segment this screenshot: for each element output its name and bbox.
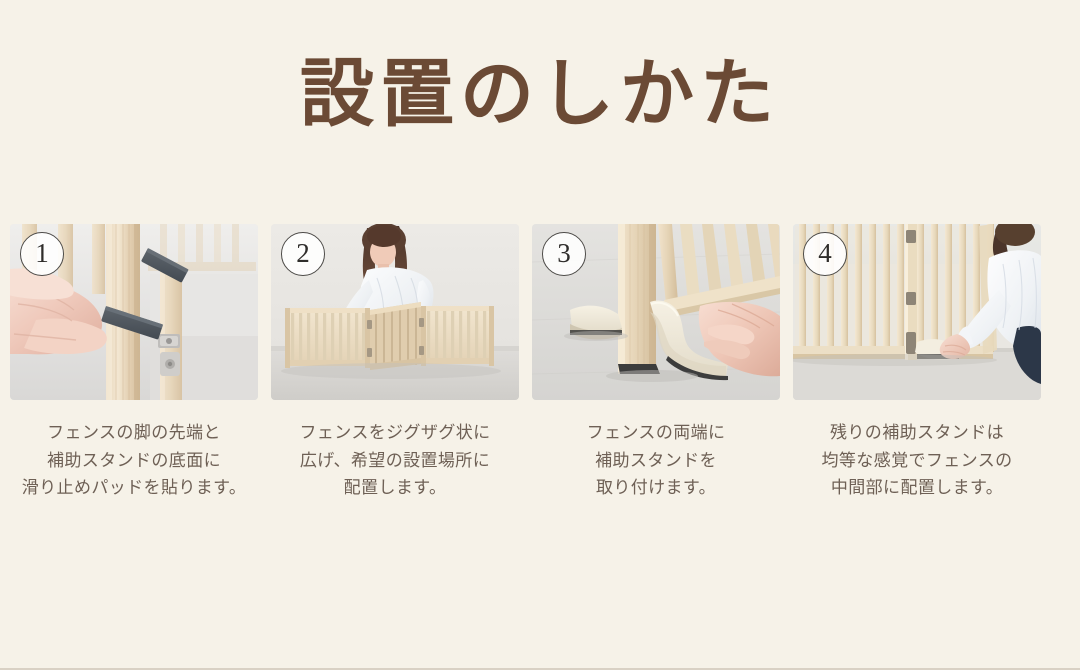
step-card-4: 4 残りの補助スタンドは 均等な感覚でフェンスの 中間部に配置します。 [793, 224, 1041, 503]
caption-line: 取り付けます。 [532, 475, 780, 503]
step-card-2: 2 フェンスをジグザグ状に 広げ、希望の設置場所に 配置します。 [271, 224, 519, 503]
step-number-3: 3 [557, 240, 571, 269]
step-photo-1: 1 [10, 224, 258, 400]
caption-line: 配置します。 [271, 475, 519, 503]
caption-line: フェンスをジグザグ状に [271, 420, 519, 448]
caption-line: 中間部に配置します。 [793, 475, 1041, 503]
step-caption-1: フェンスの脚の先端と 補助スタンドの底面に 滑り止めパッドを貼ります。 [10, 420, 258, 503]
step-number-1: 1 [35, 240, 49, 269]
step-caption-4: 残りの補助スタンドは 均等な感覚でフェンスの 中間部に配置します。 [793, 420, 1041, 503]
step-caption-2: フェンスをジグザグ状に 広げ、希望の設置場所に 配置します。 [271, 420, 519, 503]
step-number-badge-3: 3 [542, 232, 586, 276]
steps-grid: 1 フェンスの脚の先端と 補助スタンドの底面に 滑り止めパッドを貼ります。 [10, 224, 1070, 503]
step-number-badge-2: 2 [281, 232, 325, 276]
step-number-4: 4 [818, 240, 832, 269]
caption-line: 補助スタンドの底面に [10, 448, 258, 476]
caption-line: 広げ、希望の設置場所に [271, 448, 519, 476]
page-title: 設置のしかた [0, 56, 1080, 134]
step-card-3: 3 フェンスの両端に 補助スタンドを 取り付けます。 [532, 224, 780, 503]
step-photo-2: 2 [271, 224, 519, 400]
caption-line: 残りの補助スタンドは [793, 420, 1041, 448]
step-card-1: 1 フェンスの脚の先端と 補助スタンドの底面に 滑り止めパッドを貼ります。 [10, 224, 258, 503]
caption-line: 均等な感覚でフェンスの [793, 448, 1041, 476]
caption-line: フェンスの両端に [532, 420, 780, 448]
step-number-badge-1: 1 [20, 232, 64, 276]
page-title-container: 設置のしかた [0, 56, 1080, 134]
caption-line: フェンスの脚の先端と [10, 420, 258, 448]
step-number-2: 2 [296, 240, 310, 269]
step-photo-3: 3 [532, 224, 780, 400]
step-caption-3: フェンスの両端に 補助スタンドを 取り付けます。 [532, 420, 780, 503]
step-photo-4: 4 [793, 224, 1041, 400]
caption-line: 補助スタンドを [532, 448, 780, 476]
step-number-badge-4: 4 [803, 232, 847, 276]
caption-line: 滑り止めパッドを貼ります。 [10, 475, 258, 503]
